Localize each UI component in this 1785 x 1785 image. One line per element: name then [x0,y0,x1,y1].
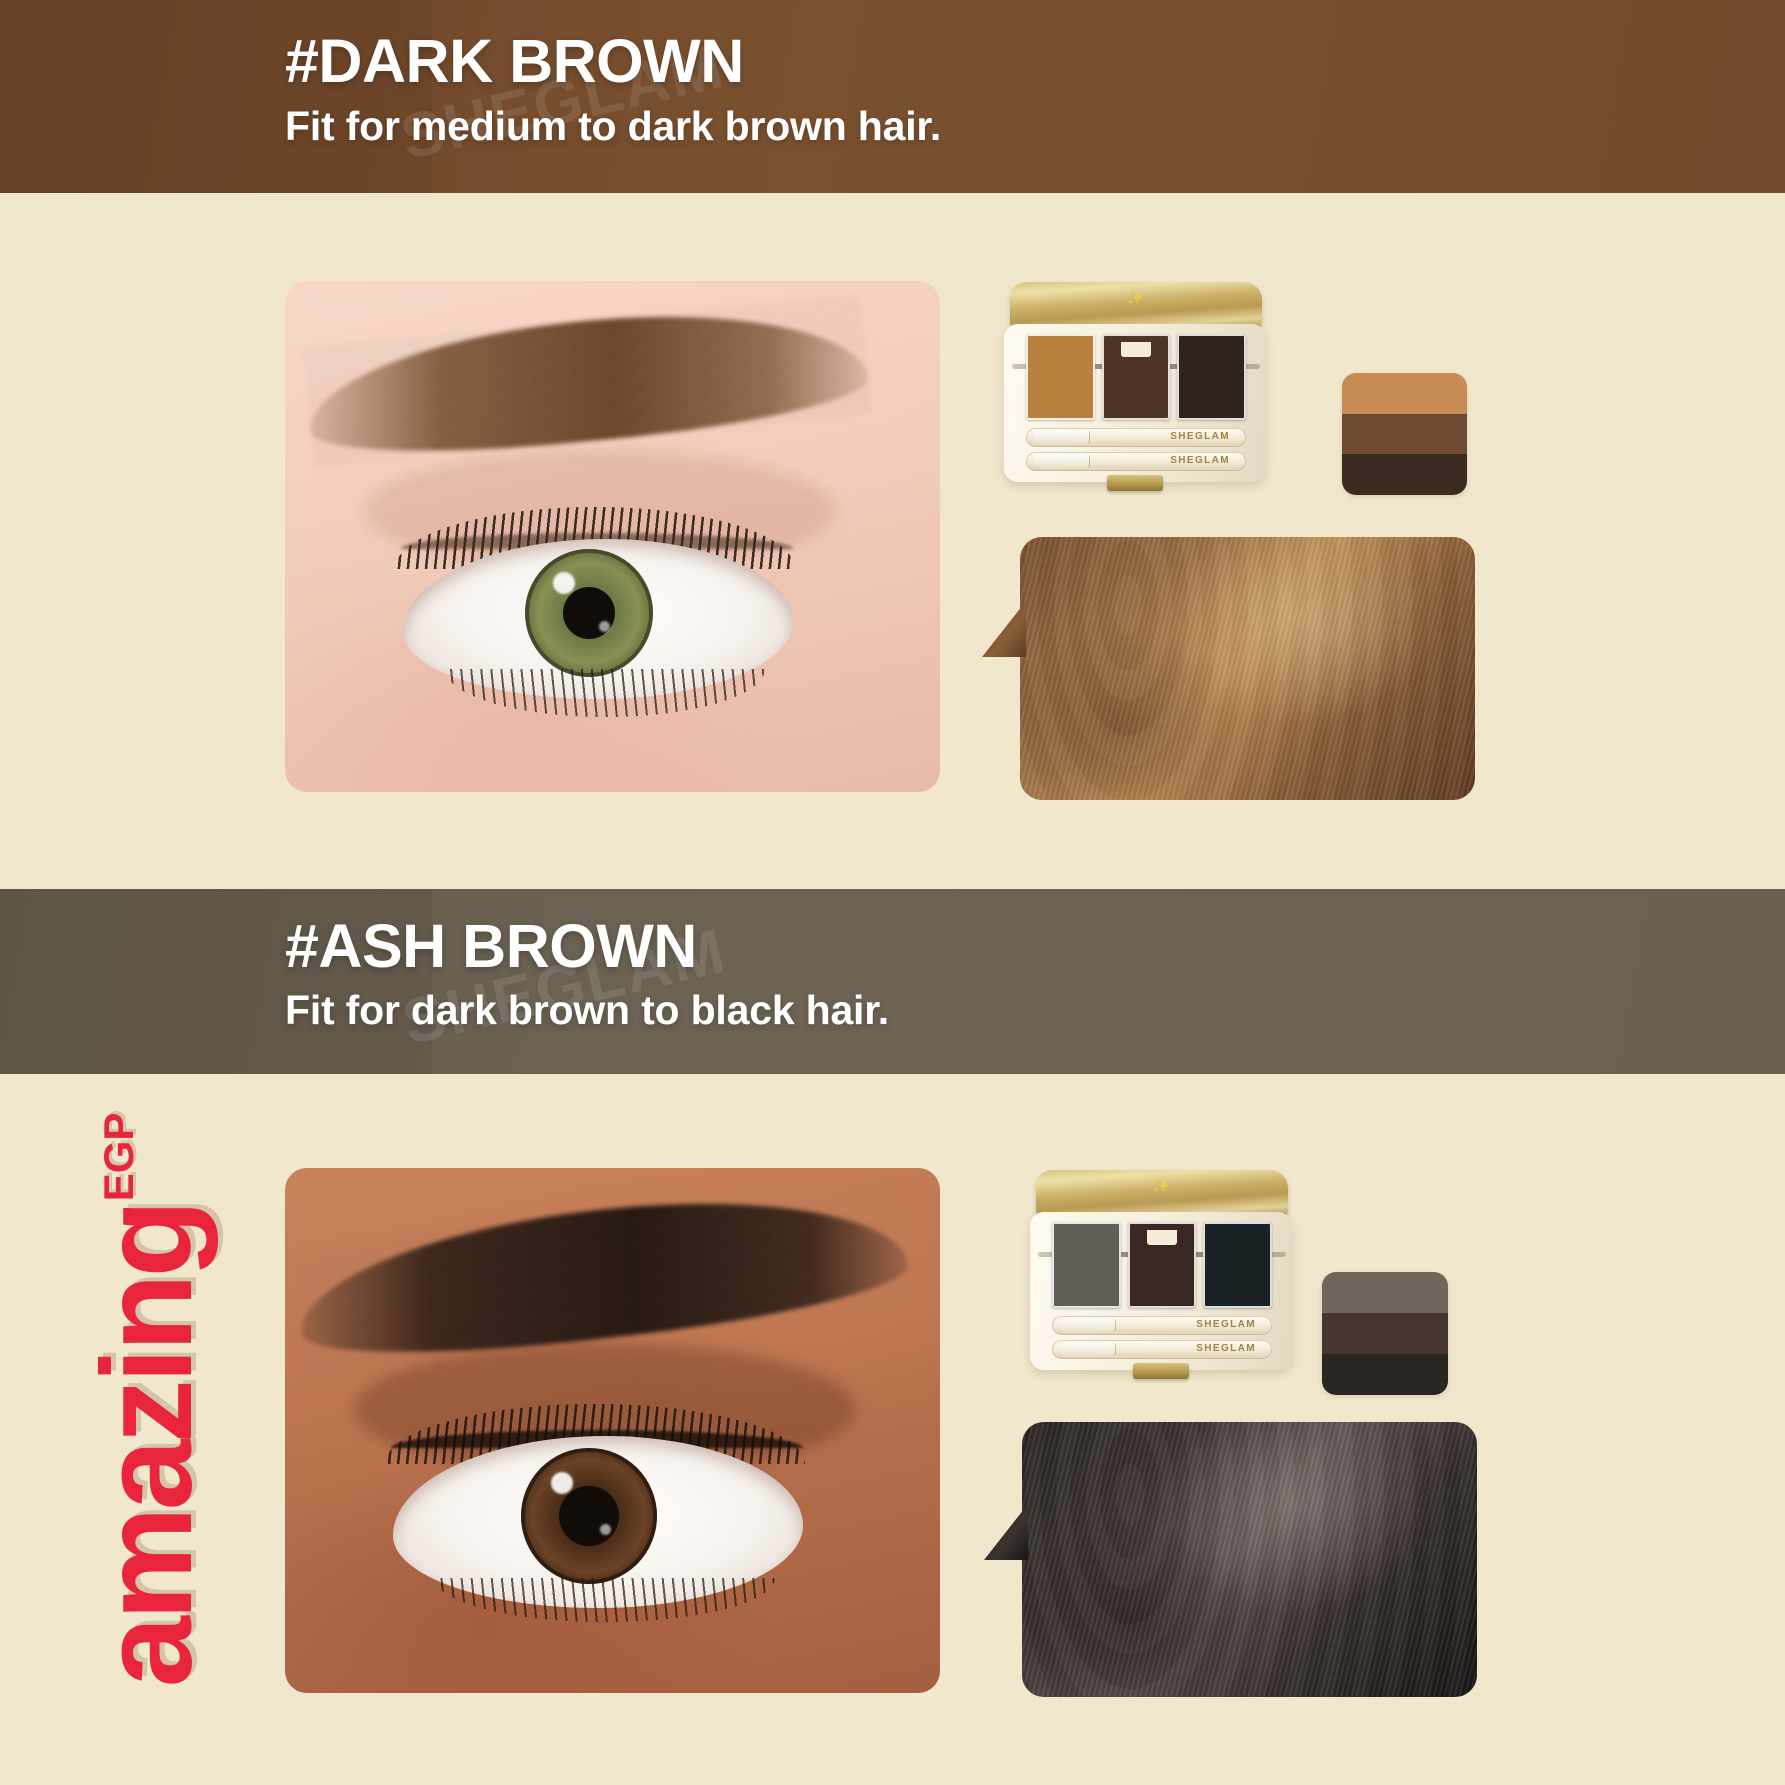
banner-dark-brown: SHEGLAM #DARK BROWN Fit for medium to da… [0,0,1785,193]
brush-tip-icon [1060,1319,1116,1332]
applicator-brush-1: SHEGLAM [1052,1316,1272,1335]
palette-compact-dark-brown: ✨ SHEGLAM SHEGLAM [1004,282,1266,482]
palette-gold-lid: ✨ [1036,1170,1288,1218]
applicator-brush-2: SHEGLAM [1052,1340,1272,1359]
shade-subtitle-ash-brown: Fit for dark brown to black hair. [285,990,889,1031]
applicator-brand-label-2: SHEGLAM [1196,1343,1256,1354]
swatch-stripe-dark [1322,1354,1448,1395]
iris [525,549,653,677]
eye-highlight-secondary [600,1524,611,1535]
eye-globe [393,1436,803,1608]
hair-wave-overlay [1022,1422,1477,1697]
palette-body: SHEGLAM SHEGLAM [1030,1212,1292,1370]
palette-applicators: SHEGLAM SHEGLAM [1026,428,1246,474]
lid-embossed-logo-icon: ✨ [1127,290,1145,307]
brush-tip-icon [1060,1343,1116,1356]
applicator-brand-label-1: SHEGLAM [1196,1319,1256,1330]
pan-medium [1128,1222,1197,1308]
swatch-stripe-medium [1322,1313,1448,1354]
swatch-stripe-medium [1342,414,1467,455]
palette-gold-lid: ✨ [1010,282,1262,330]
palette-clasp [1133,1363,1189,1379]
applicator-brand-label-2: SHEGLAM [1170,455,1230,466]
applicator-brush-2: SHEGLAM [1026,452,1246,471]
hair-swatch-ash-brown [1022,1422,1477,1697]
palette-compact-ash-brown: ✨ SHEGLAM SHEGLAM [1030,1170,1292,1375]
eye-highlight-primary [551,1472,573,1494]
iris [521,1448,657,1584]
palette-pans [1026,334,1246,420]
eye-highlight-primary [553,572,575,594]
applicator-brand-label-1: SHEGLAM [1170,431,1230,442]
pan-divider-tab [1121,342,1151,357]
product-shade-guide-page: SHEGLAM #DARK BROWN Fit for medium to da… [0,0,1785,1785]
pan-medium [1102,334,1171,420]
swatch-stripe-light [1342,373,1467,414]
pupil [559,1486,619,1546]
hair-wave-overlay [1020,537,1475,800]
pan-dark [1177,334,1246,420]
color-swatch-dark-brown [1342,373,1467,495]
palette-clasp [1107,475,1163,491]
hair-swatch-dark-brown [1020,537,1475,800]
logo-wordmark: amazing [89,1203,207,1687]
banner-ash-brown: SHEGLAM #ASH BROWN Fit for dark brown to… [0,889,1785,1074]
pan-light [1026,334,1095,420]
eye-highlight-secondary [599,621,610,632]
hair-texture [1020,537,1475,800]
amazing-egp-logo: amazing EGP [48,1120,248,1680]
pan-dark [1203,1222,1272,1308]
swatch-stripe-light [1322,1272,1448,1313]
palette-pans [1052,1222,1272,1308]
logo-rotated-group: amazing EGP [89,1113,207,1688]
hair-texture [1022,1422,1477,1697]
palette-applicators: SHEGLAM SHEGLAM [1052,1316,1272,1362]
brush-tip-icon [1034,455,1090,468]
applicator-brush-1: SHEGLAM [1026,428,1246,447]
lid-embossed-logo-icon: ✨ [1153,1178,1171,1195]
palette-body: SHEGLAM SHEGLAM [1004,324,1266,482]
eye-photo-dark-brown [285,281,940,792]
color-swatch-ash-brown [1322,1272,1448,1395]
eye-globe [403,539,793,699]
logo-superscript: EGP [95,1113,143,1202]
pan-divider-tab [1147,1230,1177,1245]
shade-subtitle-dark-brown: Fit for medium to dark brown hair. [285,106,941,147]
pan-light [1052,1222,1121,1308]
brush-tip-icon [1034,431,1090,444]
shade-title-ash-brown: #ASH BROWN [285,916,697,977]
shade-title-dark-brown: #DARK BROWN [285,31,744,92]
eye-photo-ash-brown [285,1168,940,1693]
swatch-stripe-dark [1342,454,1467,495]
